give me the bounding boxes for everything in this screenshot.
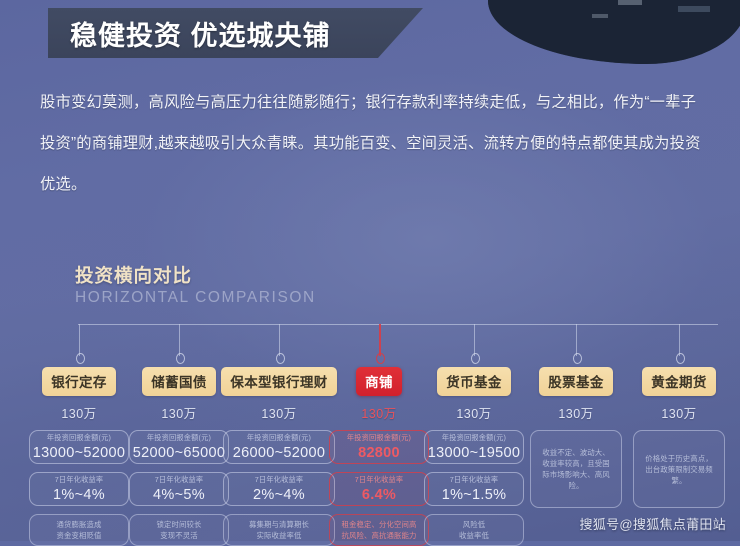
note-line: 收益不定、波动大、 [542,447,609,458]
note-line: 资金变相贬值 [57,530,102,541]
page-title: 稳健投资 优选城央铺 [70,14,331,53]
connector-node-1 [76,353,85,364]
column-header-chip[interactable]: 股票基金 [539,367,613,396]
note-line: 租金稳定、分化空间高 [342,519,417,530]
note-line: 抗风险、高抗通胀能力 [342,530,417,541]
comparison-title-en: HORIZONTAL COMPARISON [75,289,316,307]
connector-node-3 [276,353,285,364]
note-line: 收益率较高，且受国 [542,458,609,469]
note-line: 通货膨胀造成 [57,519,102,530]
metric-value: 26000~52000 [233,444,325,462]
metric-value: 1%~1.5% [442,486,507,504]
metric-cell: 年投资回报金额(元)13000~52000 [29,430,129,464]
connector-line-6 [576,324,577,356]
metric-cell: 7日年化收益率6.4% [329,472,429,506]
comparison-column-6[interactable]: 股票基金130万收益不定、波动大、收益率较高，且受国际市场影响大、高风险。 [530,367,622,508]
metric-cell: 7日年化收益率4%~5% [129,472,229,506]
metric-value: 6.4% [362,486,396,504]
metric-label: 7日年化收益率 [255,475,304,485]
metric-label: 年投资回报金额(元) [47,433,111,443]
column-note: 锁定时间较长变现不灵活 [129,514,229,546]
connector-node-4 [376,353,385,364]
connector-rail [78,324,718,325]
metric-cell: 年投资回报金额(元)52000~65000 [129,430,229,464]
metric-value: 13000~19500 [428,444,520,462]
note-line: 际市场影响大、高风 [542,469,609,480]
metric-cell: 7日年化收益率1%~1.5% [424,472,524,506]
note-line: 价格处于历史高点， [645,453,712,464]
metric-label: 7日年化收益率 [155,475,204,485]
metric-label: 7日年化收益率 [55,475,104,485]
metric-value: 1%~4% [53,486,105,504]
connector-node-5 [471,353,480,364]
principal-amount: 130万 [261,403,296,422]
column-note: 收益不定、波动大、收益率较高，且受国际市场影响大、高风险。 [530,430,622,508]
note-line: 变现不灵活 [160,530,197,541]
metric-label: 年投资回报金额(元) [347,433,411,443]
metric-label: 7日年化收益率 [355,475,404,485]
watermark: 搜狐号@搜狐焦点莆田站 [580,514,727,533]
metric-label: 7日年化收益率 [450,475,499,485]
note-line: 繁。 [672,475,687,486]
column-header-chip[interactable]: 黄金期货 [642,367,716,396]
comparison-column-3[interactable]: 保本型银行理财130万年投资回报金额(元)26000~520007日年化收益率2… [220,367,338,546]
comparison-column-2[interactable]: 储蓄国债130万年投资回报金额(元)52000~650007日年化收益率4%~5… [131,367,227,546]
note-line: 锁定时间较长 [157,519,202,530]
aerial-city-photo [488,0,740,64]
note-line: 实际收益率低 [257,530,302,541]
connector-node-2 [176,353,185,364]
metric-value: 82800 [358,444,400,462]
comparison-column-5[interactable]: 货币基金130万年投资回报金额(元)13000~195007日年化收益率1%~1… [428,367,520,546]
connector-line-1 [79,324,80,356]
column-header-chip[interactable]: 储蓄国债 [142,367,216,396]
connector-node-7 [676,353,685,364]
intro-paragraph: 股市变幻莫测，高风险与高压力往往随影随行；银行存款利率持续走低，与之相比，作为“… [40,82,708,205]
connector-line-2 [179,324,180,356]
column-header-chip[interactable]: 商铺 [356,367,402,396]
column-note: 通货膨胀造成资金变相贬值 [29,514,129,546]
principal-amount: 130万 [161,403,196,422]
metric-label: 年投资回报金额(元) [442,433,506,443]
metric-cell: 7日年化收益率2%~4% [223,472,335,506]
principal-amount: 130万 [661,403,696,422]
column-note: 募集期与清算期长实际收益率低 [223,514,335,546]
metric-value: 52000~65000 [133,444,225,462]
connector-line-4 [379,324,381,356]
comparison-column-4[interactable]: 商铺130万年投资回报金额(元)828007日年化收益率6.4%租金稳定、分化空… [342,367,416,546]
note-line: 收益率低 [459,530,489,541]
column-note: 租金稳定、分化空间高抗风险、高抗通胀能力 [329,514,429,546]
column-header-chip[interactable]: 银行定存 [42,367,116,396]
infographic-page: 稳健投资 优选城央铺 股市变幻莫测，高风险与高压力往往随影随行；银行存款利率持续… [0,0,740,541]
principal-amount: 130万 [361,403,396,422]
metric-label: 年投资回报金额(元) [247,433,311,443]
comparison-column-7[interactable]: 黄金期货130万价格处于历史高点，出台政策限制交易频繁。 [633,367,725,508]
metric-cell: 年投资回报金额(元)13000~19500 [424,430,524,464]
metric-cell: 7日年化收益率1%~4% [29,472,129,506]
note-line: 险。 [569,480,584,491]
connector-line-7 [679,324,680,356]
column-header-chip[interactable]: 保本型银行理财 [221,367,336,396]
note-line: 募集期与清算期长 [249,519,309,530]
comparison-column-1[interactable]: 银行定存130万年投资回报金额(元)13000~520007日年化收益率1%~4… [31,367,127,546]
principal-amount: 130万 [558,403,593,422]
note-line: 风险低 [463,519,485,530]
metric-value: 2%~4% [253,486,305,504]
metric-value: 13000~52000 [33,444,125,462]
column-note: 风险低收益率低 [424,514,524,546]
connector-line-3 [279,324,280,356]
title-banner: 稳健投资 优选城央铺 [48,8,423,58]
column-header-chip[interactable]: 货币基金 [437,367,511,396]
metric-label: 年投资回报金额(元) [147,433,211,443]
principal-amount: 130万 [456,403,491,422]
note-line: 出台政策限制交易频 [645,464,712,475]
metric-cell: 年投资回报金额(元)82800 [329,430,429,464]
comparison-title-cn: 投资横向对比 [75,262,192,288]
connector-node-6 [573,353,582,364]
metric-value: 4%~5% [153,486,205,504]
metric-cell: 年投资回报金额(元)26000~52000 [223,430,335,464]
connector-line-5 [474,324,475,356]
principal-amount: 130万 [61,403,96,422]
column-note: 价格处于历史高点，出台政策限制交易频繁。 [633,430,725,508]
